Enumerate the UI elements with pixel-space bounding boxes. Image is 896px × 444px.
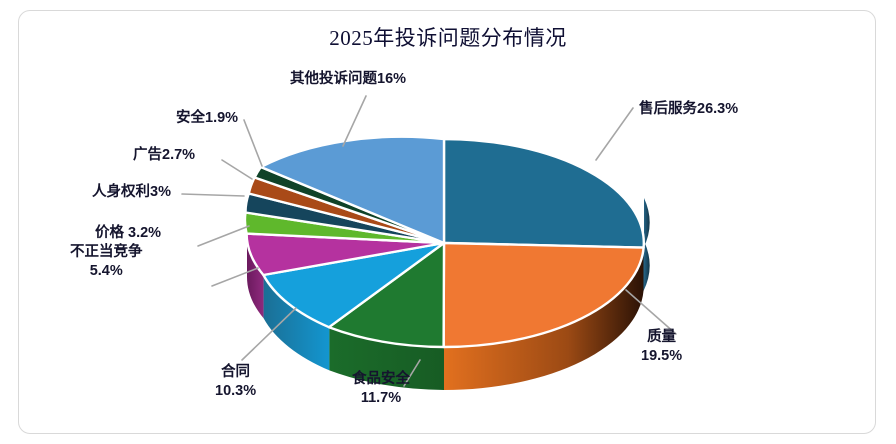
label-food-name: 食品安全 (352, 370, 410, 389)
label-advertising: 广告2.7% (133, 146, 195, 165)
label-safety: 安全1.9% (176, 109, 238, 128)
pie-3d-top-slices (245, 137, 644, 347)
label-other: 其他投诉问题16% (290, 70, 406, 89)
label-food-pct: 11.7% (352, 389, 410, 408)
leader-aftersales (596, 108, 633, 160)
label-unfair-name: 不正当竞争 (70, 243, 143, 262)
label-contract: 合同 10.3% (215, 363, 256, 400)
label-contract-pct: 10.3% (215, 382, 256, 401)
label-unfair-pct: 5.4% (70, 262, 143, 281)
leader-safety (244, 120, 262, 166)
label-unfair: 不正当竞争 5.4% (70, 243, 143, 280)
leader-personal-rights (182, 194, 244, 196)
leader-advertising (222, 160, 252, 179)
label-quality-pct: 19.5% (641, 347, 682, 366)
label-food: 食品安全 11.7% (352, 370, 410, 407)
label-quality: 质量 19.5% (641, 328, 682, 365)
pie-chart-3d (0, 0, 896, 444)
label-price: 价格 3.2% (95, 224, 161, 243)
label-quality-name: 质量 (641, 328, 682, 347)
label-personal-rights: 人身权利3% (92, 183, 171, 202)
leader-price (198, 226, 249, 246)
label-contract-name: 合同 (215, 363, 256, 382)
slice-aftersales (444, 139, 644, 248)
label-aftersales: 售后服务26.3% (639, 100, 738, 119)
